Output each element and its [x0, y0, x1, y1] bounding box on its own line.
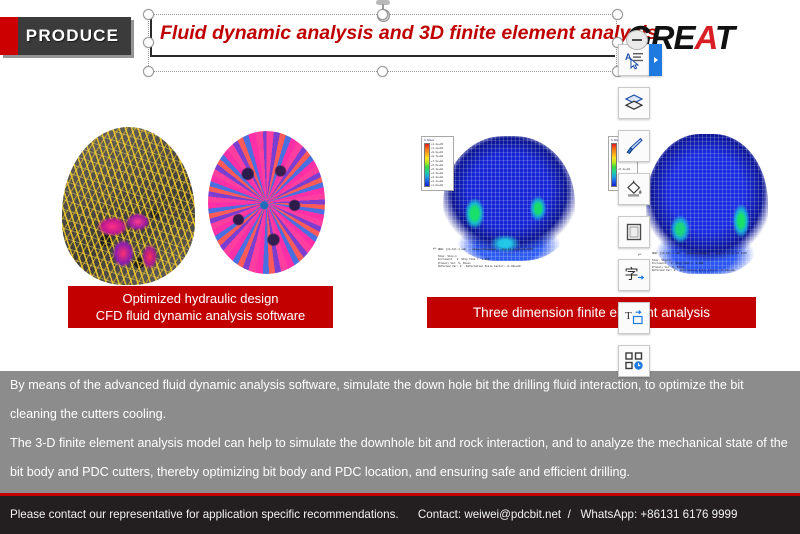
produce-badge-label: PRODUCE: [12, 26, 119, 46]
selection-handle-top-right[interactable]: [612, 9, 623, 20]
fea-legend-tick: +9.8e+02: [431, 151, 443, 154]
fea-axis-triad-left: ⌐: [433, 246, 437, 252]
fea-legend-tick: +8.7e+02: [431, 155, 443, 158]
fea-legend-tick: +7.6e+02: [431, 160, 443, 163]
left-caption-line-2: CFD fluid dynamic analysis software: [96, 307, 306, 324]
rectangle-icon: [624, 222, 644, 242]
slide-title: Fluid dynamic analysis and 3D finite ele…: [160, 22, 610, 45]
brush-tool-button[interactable]: [618, 130, 650, 162]
qr-scan-icon: [624, 351, 644, 371]
fea-legend-tick: +1.1e+03: [431, 147, 443, 150]
left-caption-line-1: Optimized hydraulic design: [122, 290, 278, 307]
footer-contact-text: Please contact our representative for ap…: [10, 508, 737, 521]
fea-legend-tick: +1.2e+03: [431, 143, 443, 146]
right-figure-caption-banner: Three dimension finite element analysis: [427, 297, 756, 328]
cfd-streamline-image: [62, 127, 195, 285]
logo-text-accent: A: [695, 19, 715, 56]
produce-badge: PRODUCE: [0, 17, 131, 55]
fea-caption-right: ODB: job-bit-1.odb Abaqus/Standard Aug 1…: [652, 252, 747, 272]
fea-legend-ticks: +1.2e+03 +1.1e+03 +9.8e+02 +8.7e+02 +7.6…: [431, 143, 443, 187]
collapse-badge-icon[interactable]: [626, 30, 648, 50]
fea-legend-tick: +4.3e+02: [431, 172, 443, 175]
footer-bar: Please contact our representative for ap…: [0, 493, 800, 534]
scan-code-tool-button[interactable]: [618, 345, 650, 377]
selection-handle-top-center[interactable]: [377, 9, 388, 20]
text-select-flyout-arrow[interactable]: [649, 44, 662, 76]
translate-character-icon: 字: [623, 264, 645, 286]
svg-text:字: 字: [625, 267, 639, 283]
cfd-bitface-image: [208, 131, 325, 274]
text-box-tool-button[interactable]: T: [618, 302, 650, 334]
translate-tool-button[interactable]: 字: [618, 259, 650, 291]
text-select-tool-button[interactable]: A: [618, 44, 650, 76]
selection-handle-bottom-left[interactable]: [143, 66, 154, 77]
body-paragraph-1: By means of the advanced fluid dynamic a…: [0, 371, 800, 429]
floating-toolbar[interactable]: A: [618, 44, 654, 388]
body-text-panel: By means of the advanced fluid dynamic a…: [0, 371, 800, 493]
layers-icon: [624, 93, 644, 113]
layers-tool-button[interactable]: [618, 87, 650, 119]
svg-text:T: T: [625, 310, 632, 322]
fea-caption-left: ODB: job-bit-1.odb Abaqus/Standard Aug 1…: [438, 248, 533, 268]
fea-front-view-image: [443, 136, 575, 261]
fea-legend-tick: +3.2e+02: [431, 176, 443, 179]
right-caption-line-1: Three dimension finite element analysis: [473, 304, 710, 321]
text-box-icon: T: [624, 308, 644, 328]
fea-legend-tick: +2.1e+02: [431, 180, 443, 183]
paint-bucket-icon: [624, 179, 644, 199]
logo-text-part-3: T: [715, 19, 734, 56]
body-paragraph-2: The 3-D finite element analysis model ca…: [0, 429, 800, 487]
brush-icon: [624, 136, 644, 156]
selection-handle-top-left[interactable]: [143, 9, 154, 20]
fea-legend-colorbar: [611, 143, 617, 187]
text-cursor-icon: A: [624, 50, 644, 70]
fea-legend-left: S, Mises +1.2e+03 +1.1e+03 +9.8e+02 +8.7…: [421, 136, 454, 191]
fea-legend-colorbar: [424, 143, 430, 187]
fea-legend-title: S, Mises: [424, 139, 451, 142]
selection-handle-bottom-center[interactable]: [377, 66, 388, 77]
slide-canvas: PRODUCE Fluid dynamic analysis and 3D fi…: [0, 0, 800, 534]
fea-legend-tick: +5.4e+02: [431, 168, 443, 171]
fea-legend-tick: +1.0e+02: [431, 184, 443, 187]
shape-tool-button[interactable]: [618, 216, 650, 248]
selection-handle-middle-left[interactable]: [143, 37, 154, 48]
fill-tool-button[interactable]: [618, 173, 650, 205]
left-figure-caption-banner: Optimized hydraulic design CFD fluid dyn…: [68, 286, 333, 328]
fea-legend-tick: +6.5e+02: [431, 164, 443, 167]
